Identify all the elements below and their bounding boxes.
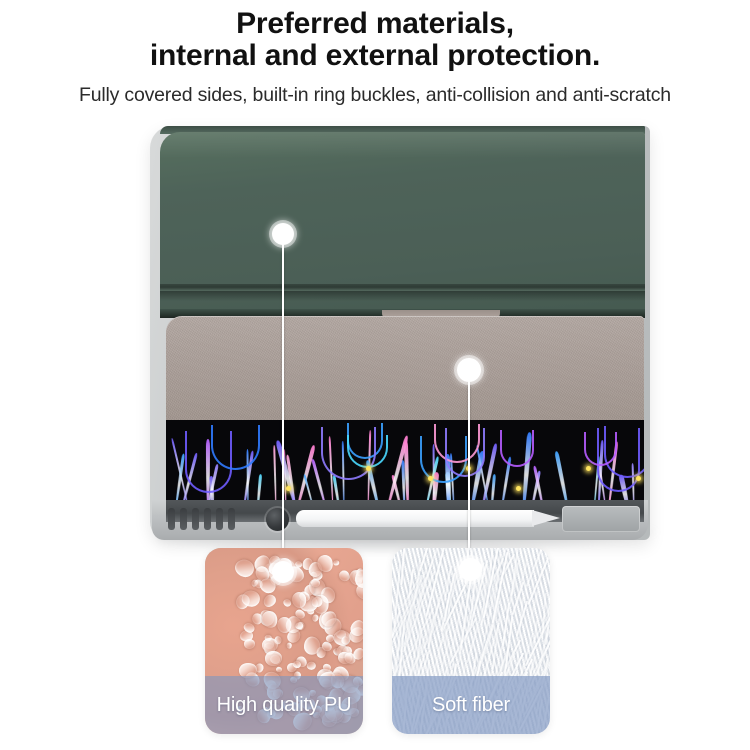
wallpaper-loop xyxy=(500,430,534,467)
speaker-grille xyxy=(168,508,260,530)
speaker-slot xyxy=(192,508,199,530)
pu-pellet xyxy=(307,662,316,670)
swatch-label-fiber: Soft fiber xyxy=(392,676,550,734)
wallpaper-glow-tip xyxy=(586,466,591,471)
product-feature-image: Preferred materials, internal and extern… xyxy=(0,0,750,750)
wallpaper-glow-tip xyxy=(516,486,521,491)
wallpaper-glow-tip xyxy=(286,486,291,491)
pu-pellet xyxy=(325,634,334,642)
wallpaper-loop xyxy=(211,425,260,469)
side-key xyxy=(562,506,640,532)
pu-pellet xyxy=(262,637,279,652)
callout-line-pu xyxy=(282,240,284,570)
pu-pellet xyxy=(232,557,256,580)
wallpaper-loop xyxy=(445,428,485,477)
screen-wallpaper xyxy=(166,420,644,504)
wallpaper-ribbon xyxy=(555,451,571,504)
callout-line-fiber xyxy=(468,376,470,572)
pu-pellet xyxy=(244,639,255,649)
tablet-screen xyxy=(166,420,644,504)
swatch-label-pu: High quality PU xyxy=(205,676,363,734)
pu-pellet xyxy=(332,559,339,566)
callout-dot-swatch-pu[interactable] xyxy=(272,561,294,583)
fiber-strand xyxy=(528,550,550,606)
callout-dot-swatch-fiber[interactable] xyxy=(459,558,482,581)
pu-pellet xyxy=(252,613,262,624)
speaker-slot xyxy=(228,508,235,530)
speaker-slot xyxy=(180,508,187,530)
cover-fold-crease xyxy=(160,284,645,291)
speaker-slot xyxy=(204,508,211,530)
soft-fiber-lining-panel xyxy=(166,316,644,420)
wallpaper-ribbon xyxy=(295,445,316,504)
wallpaper-glow-tip xyxy=(636,476,641,481)
stylus-tip xyxy=(532,510,560,526)
speaker-slot xyxy=(216,508,223,530)
pu-pellet xyxy=(276,667,283,673)
wallpaper-glow-tip xyxy=(366,466,371,471)
camera-lens-icon xyxy=(266,508,289,531)
wallpaper-glow-tip xyxy=(428,476,433,481)
speaker-slot xyxy=(168,508,175,530)
wallpaper-ribbon xyxy=(273,445,277,504)
wallpaper-ribbon xyxy=(275,440,298,504)
product-photo xyxy=(0,0,750,560)
callout-dot-lining[interactable] xyxy=(457,358,481,382)
stylus-pen xyxy=(296,510,534,527)
fiber-strand xyxy=(400,548,404,585)
pu-pellet xyxy=(260,592,277,609)
callout-dot-cover[interactable] xyxy=(272,223,294,245)
cover-fold-shadow xyxy=(160,291,645,301)
pu-pellet xyxy=(264,650,282,666)
pu-pellet xyxy=(286,642,291,648)
fiber-strand xyxy=(526,548,544,587)
